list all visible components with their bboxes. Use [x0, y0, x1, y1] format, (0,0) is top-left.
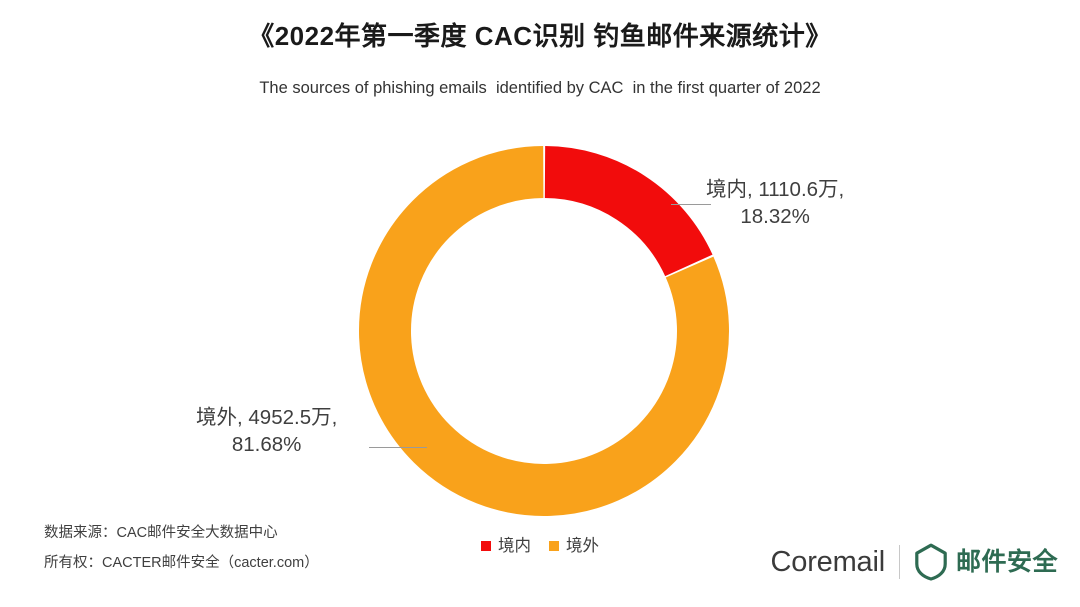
ownership-line: 所有权：CACTER邮件安全（cacter.com） [44, 556, 319, 571]
data-source-line: 数据来源：CAC邮件安全大数据中心 [44, 526, 319, 541]
legend-item-overseas[interactable]: 境外 [549, 538, 599, 555]
callout-domestic-line1: 境内, 1110.6万, [706, 178, 844, 201]
brand-divider [899, 545, 900, 579]
leader-line-overseas [369, 447, 427, 448]
shield-icon-svg [914, 543, 948, 581]
callout-domestic-line2: 18.32% [706, 203, 844, 230]
footer-source: 数据来源：CAC邮件安全大数据中心 所有权：CACTER邮件安全（cacter.… [44, 526, 319, 570]
chart-page: 《2022年第一季度 CAC识别 钓鱼邮件来源统计》 The sources o… [0, 0, 1080, 607]
page-subtitle: The sources of phishing emails identifie… [0, 79, 1080, 98]
legend-label-overseas: 境外 [566, 538, 599, 555]
donut-svg [358, 145, 730, 517]
leader-line-domestic [671, 204, 711, 205]
brand-sub-text: 邮件安全 [956, 550, 1058, 575]
legend-swatch-overseas [549, 541, 559, 551]
callout-overseas-line1: 境外, 4952.5万, [196, 406, 337, 429]
shield-icon [914, 543, 948, 581]
legend-label-domestic: 境内 [498, 538, 531, 555]
brand-name: Coremail [771, 548, 885, 577]
brand-logo: Coremail 邮件安全 [771, 540, 1058, 584]
callout-overseas-line2: 81.68% [196, 431, 337, 458]
legend-swatch-domestic [481, 541, 491, 551]
callout-domestic: 境内, 1110.6万, 18.32% [706, 176, 844, 230]
brand-sub-lockup: 邮件安全 [914, 543, 1058, 581]
callout-overseas: 境外, 4952.5万, 81.68% [196, 404, 337, 458]
donut-chart [358, 145, 730, 517]
page-title: 《2022年第一季度 CAC识别 钓鱼邮件来源统计》 [0, 16, 1080, 53]
legend-item-domestic[interactable]: 境内 [481, 538, 531, 555]
